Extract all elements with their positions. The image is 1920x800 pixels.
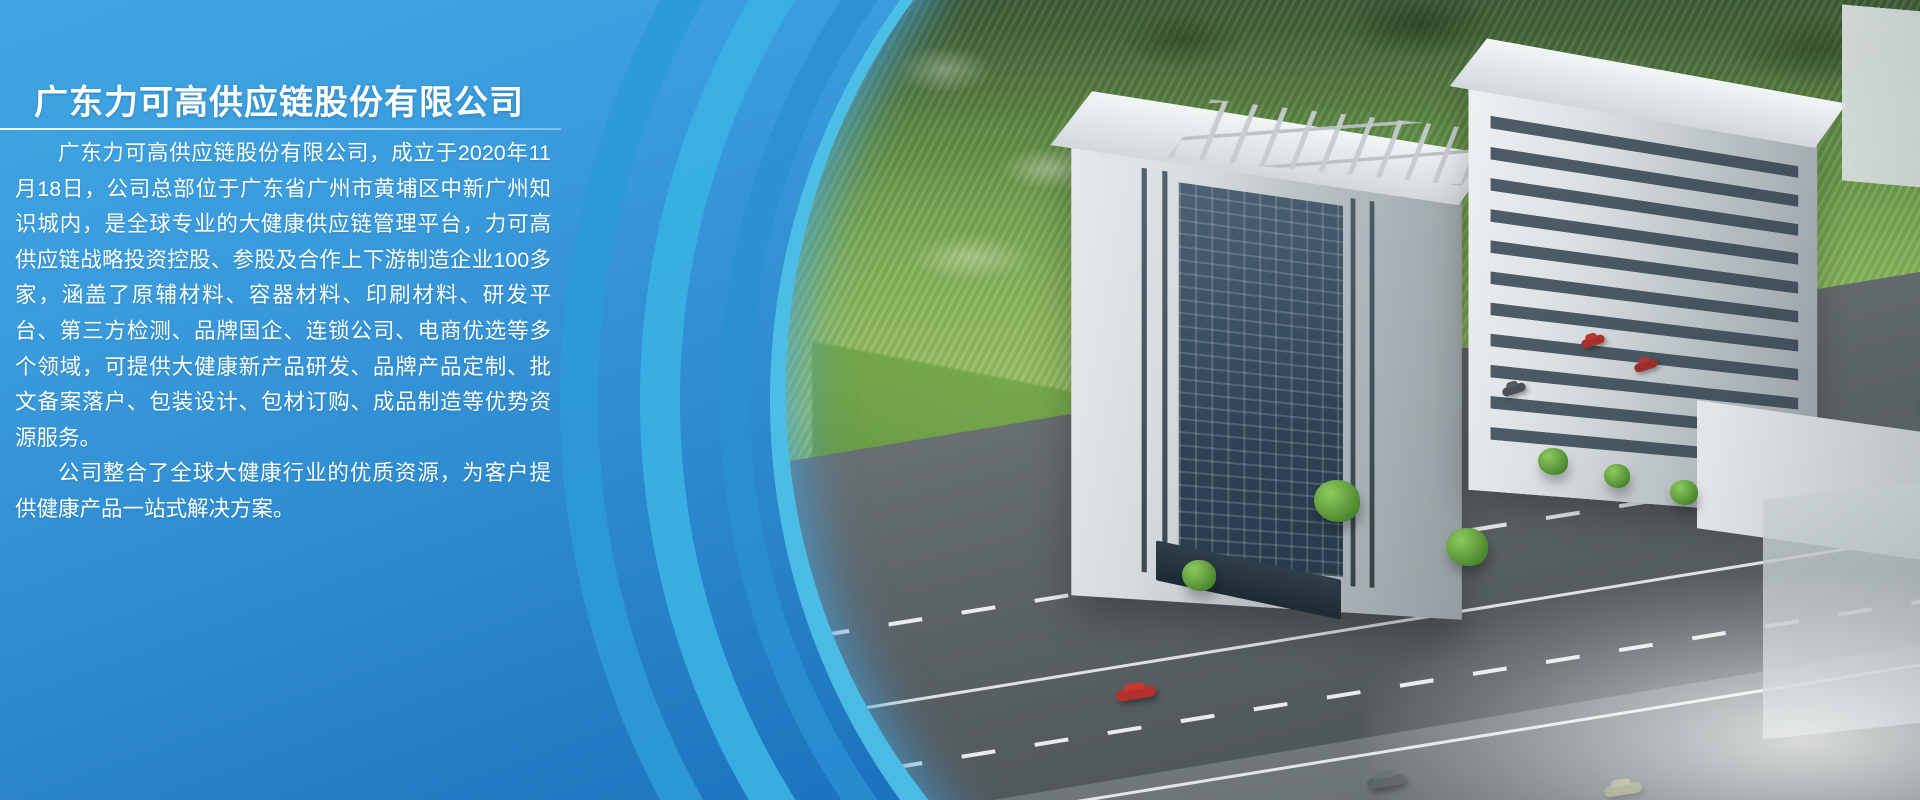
photo-haze bbox=[1367, 576, 1920, 800]
company-description: 广东力可高供应链股份有限公司，成立于2020年11月18日，公司总部位于广东省广… bbox=[15, 136, 551, 528]
photo-facade-fin-2 bbox=[1163, 171, 1168, 574]
photo-tree-1 bbox=[1314, 480, 1360, 522]
photo-building-far bbox=[1842, 4, 1920, 203]
photo-tree-2 bbox=[1446, 528, 1488, 566]
photo-tree-6 bbox=[1182, 560, 1216, 591]
text-panel: 广东力可高供应链股份有限公司 广东力可高供应链股份有限公司，成立于2020年11… bbox=[0, 0, 620, 800]
paragraph-2: 公司整合了全球大健康行业的优质资源，为客户提供健康产品一站式解决方案。 bbox=[15, 456, 551, 527]
banner-stage: 广东力可高供应链股份有限公司 广东力可高供应链股份有限公司，成立于2020年11… bbox=[0, 0, 1920, 800]
photo-tree-3 bbox=[1538, 448, 1568, 475]
photo-tree-5 bbox=[1670, 480, 1698, 505]
photo-facade-fin-4 bbox=[1370, 201, 1375, 588]
building-photo-disc bbox=[786, 0, 1920, 800]
photo-curtain-wall bbox=[1179, 182, 1344, 577]
photo-tree-4 bbox=[1604, 464, 1630, 488]
paragraph-1: 广东力可高供应链股份有限公司，成立于2020年11月18日，公司总部位于广东省广… bbox=[15, 136, 551, 456]
photo-facade-fin-3 bbox=[1351, 198, 1356, 587]
title-divider bbox=[0, 128, 561, 130]
page-title: 广东力可高供应链股份有限公司 bbox=[34, 75, 524, 124]
photo-facade-fin-1 bbox=[1142, 168, 1147, 573]
photo-building-main bbox=[1072, 129, 1463, 619]
building-photo bbox=[786, 0, 1920, 800]
